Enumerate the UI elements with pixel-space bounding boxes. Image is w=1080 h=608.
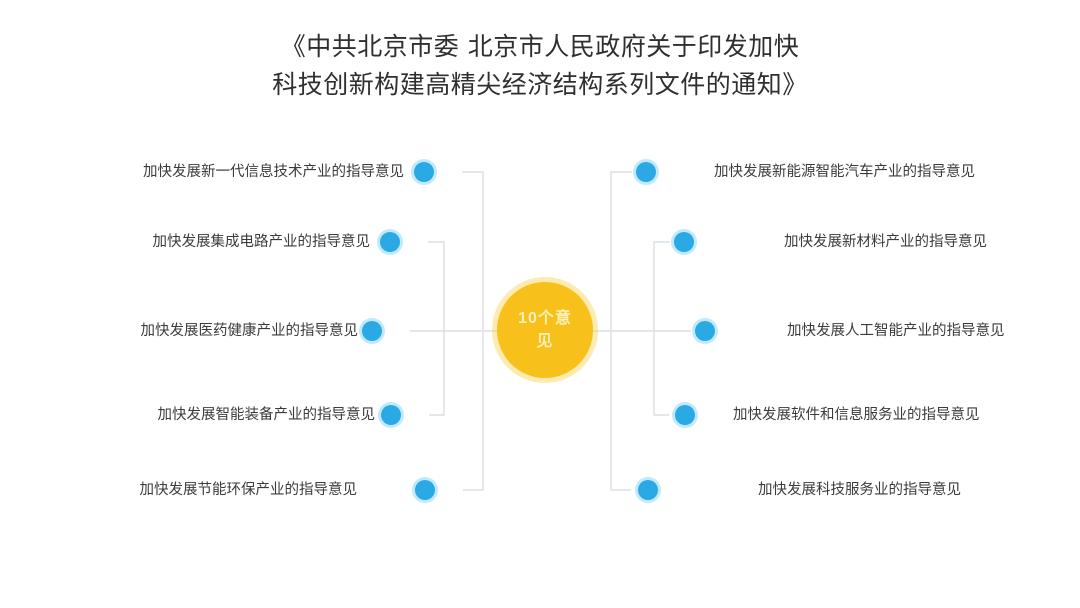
- node-right-4-label: 加快发展软件和信息服务业的指导意见: [733, 405, 980, 425]
- node-left-4-label: 加快发展智能装备产业的指导意见: [158, 405, 376, 425]
- node-right-5-label: 加快发展科技服务业的指导意见: [758, 480, 961, 500]
- node-left-2-label: 加快发展集成电路产业的指导意见: [153, 232, 371, 252]
- node-dot-icon: [380, 232, 400, 252]
- node-right-2-label: 加快发展新材料产业的指导意见: [784, 232, 987, 252]
- node-left-5[interactable]: 加快发展节能环保产业的指导意见: [140, 477, 436, 503]
- node-left-3-label: 加快发展医药健康产业的指导意见: [141, 321, 359, 341]
- node-right-4[interactable]: 加快发展软件和信息服务业的指导意见: [675, 402, 980, 428]
- node-dot-icon: [362, 321, 382, 341]
- node-right-1-label: 加快发展新能源智能汽车产业的指导意见: [714, 162, 975, 182]
- center-hub: 10个意见: [497, 282, 593, 378]
- node-dot-icon: [674, 232, 694, 252]
- node-dot-icon: [414, 162, 434, 182]
- node-dot-icon: [415, 480, 435, 500]
- node-dot-icon: [381, 405, 401, 425]
- node-right-1[interactable]: 加快发展新能源智能汽车产业的指导意见: [636, 159, 975, 185]
- node-dot-icon: [695, 321, 715, 341]
- node-left-1[interactable]: 加快发展新一代信息技术产业的指导意见: [143, 159, 434, 185]
- center-hub-label: 10个意见: [512, 307, 578, 353]
- node-left-2[interactable]: 加快发展集成电路产业的指导意见: [153, 229, 401, 255]
- node-left-4[interactable]: 加快发展智能装备产业的指导意见: [158, 402, 402, 428]
- node-left-3[interactable]: 加快发展医药健康产业的指导意见: [141, 318, 383, 344]
- node-left-5-label: 加快发展节能环保产业的指导意见: [140, 480, 358, 500]
- node-dot-icon: [638, 480, 658, 500]
- node-right-2[interactable]: 加快发展新材料产业的指导意见: [674, 229, 987, 255]
- node-right-5[interactable]: 加快发展科技服务业的指导意见: [638, 477, 961, 503]
- node-right-3[interactable]: 加快发展人工智能产业的指导意见: [695, 318, 1005, 344]
- node-right-3-label: 加快发展人工智能产业的指导意见: [787, 321, 1005, 341]
- node-dot-icon: [675, 405, 695, 425]
- node-left-1-label: 加快发展新一代信息技术产业的指导意见: [143, 162, 404, 182]
- node-dot-icon: [636, 162, 656, 182]
- slide-canvas: 《中共北京市委 北京市人民政府关于印发加快 科技创新构建高精尖经济结构系列文件的…: [0, 0, 1080, 608]
